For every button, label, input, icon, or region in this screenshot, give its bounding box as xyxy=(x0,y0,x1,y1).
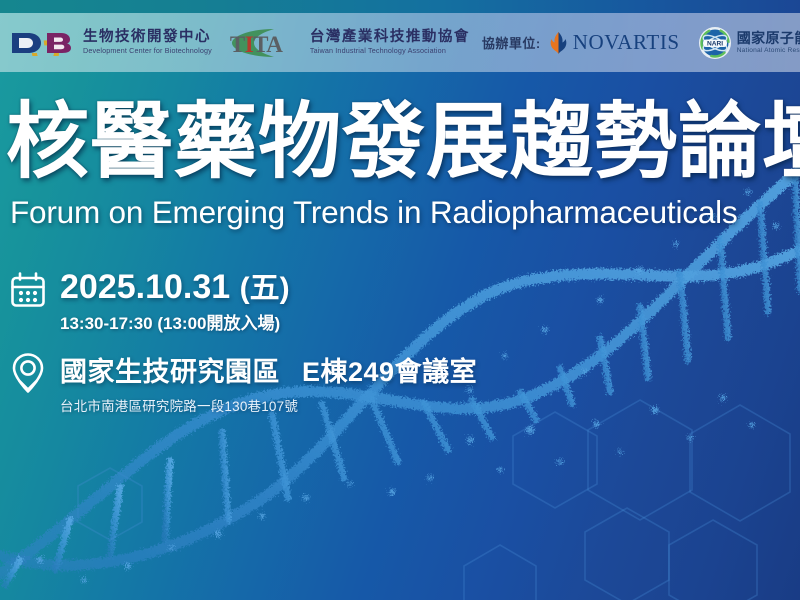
tita-wordmark: TITA xyxy=(230,32,283,58)
venue-room: E棟249會議室 xyxy=(302,357,477,387)
event-poster: 生物技術開發中心 Development Center for Biotechn… xyxy=(0,0,800,600)
tita-name-en: Taiwan Industrial Technology Association xyxy=(310,47,470,55)
event-address: 台北市南港區研究院路一段130巷107號 xyxy=(60,395,477,415)
dcb-logo-icon xyxy=(10,30,76,56)
dcb-name-cn: 生物技術開發中心 xyxy=(83,30,212,45)
dcb-name-en: Development Center for Biotechnology xyxy=(83,47,212,55)
logo-novartis[interactable]: NOVARTIS xyxy=(549,30,680,55)
nari-name-cn: 國家原子能科技研究院 xyxy=(737,31,800,46)
event-weekday: (五) xyxy=(240,272,290,305)
logo-tita[interactable]: TITA 台灣產業科技推動協會 Taiwan Industrial Techno… xyxy=(228,28,470,58)
novartis-flame-icon xyxy=(549,31,568,55)
map-pin-icon xyxy=(8,350,48,396)
page-subtitle: Forum on Emerging Trends in Radiopharmac… xyxy=(10,194,738,231)
event-date-row: 2025.10.31 (五) 13:30-17:30 (13:00開放入場) xyxy=(8,270,290,334)
sponsor-logo-bar: 生物技術開發中心 Development Center for Biotechn… xyxy=(0,13,800,72)
svg-text:NARI: NARI xyxy=(707,40,723,47)
novartis-wordmark: NOVARTIS xyxy=(573,30,680,55)
event-date-value: 2025.10.31 xyxy=(60,268,230,306)
logo-dcb[interactable]: 生物技術開發中心 Development Center for Biotechn… xyxy=(10,30,212,56)
event-location-row: 國家生技研究園區 E棟249會議室 台北市南港區研究院路一段130巷107號 xyxy=(8,350,477,415)
venue-name: 國家生技研究園區 xyxy=(60,357,280,387)
nari-badge-icon: NARI xyxy=(698,26,732,60)
logo-nari[interactable]: NARI 國家原子能科技研究院 National Atomic Research… xyxy=(698,26,800,60)
cosponsor-label: 協辦單位: xyxy=(482,33,541,52)
calendar-icon xyxy=(8,270,48,310)
event-date: 2025.10.31 (五) xyxy=(60,270,290,306)
top-accent-strip xyxy=(0,0,800,13)
event-venue: 國家生技研究園區 E棟249會議室 xyxy=(60,350,477,389)
page-title: 核醫藥物發展趨勢論壇 xyxy=(6,100,800,183)
event-time: 13:30-17:30 (13:00開放入場) xyxy=(60,309,290,334)
nari-name-en: National Atomic Research Institute xyxy=(737,47,800,54)
tita-logo-icon: TITA xyxy=(228,28,304,58)
tita-name-cn: 台灣產業科技推動協會 xyxy=(310,30,470,45)
